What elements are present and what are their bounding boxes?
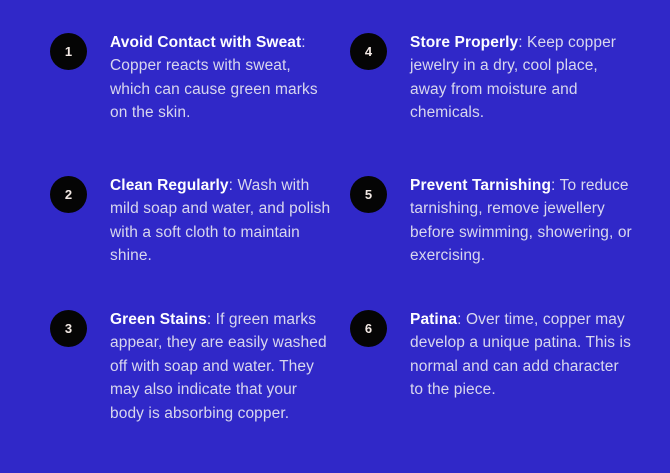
tip-item-5: 5 Prevent Tarnishing: To reduce tarnishi… bbox=[350, 176, 650, 310]
tip-text-1: Avoid Contact with Sweat: Copper reacts … bbox=[110, 31, 332, 125]
tip-item-2: 2 Clean Regularly: Wash with mild soap a… bbox=[50, 176, 350, 310]
tip-number-badge-1: 1 bbox=[50, 33, 87, 70]
tip-separator-6: : bbox=[457, 311, 466, 328]
tip-number-5: 5 bbox=[365, 188, 372, 201]
tip-number-badge-2: 2 bbox=[50, 176, 87, 213]
tips-grid: 1 Avoid Contact with Sweat: Copper react… bbox=[0, 0, 670, 473]
tip-number-1: 1 bbox=[65, 45, 72, 58]
tip-number-badge-6: 6 bbox=[350, 310, 387, 347]
tip-term-5: Prevent Tarnishing bbox=[410, 177, 551, 194]
tip-term-3: Green Stains bbox=[110, 311, 207, 328]
tip-term-1: Avoid Contact with Sweat bbox=[110, 34, 301, 51]
tip-body-1: Copper reacts with sweat, which can caus… bbox=[110, 57, 318, 121]
tip-number-4: 4 bbox=[365, 45, 372, 58]
tip-text-6: Patina: Over time, copper may develop a … bbox=[410, 308, 635, 402]
tip-number-3: 3 bbox=[65, 322, 72, 335]
tip-number-badge-5: 5 bbox=[350, 176, 387, 213]
tip-item-6: 6 Patina: Over time, copper may develop … bbox=[350, 310, 650, 473]
tip-number-2: 2 bbox=[65, 188, 72, 201]
tip-item-3: 3 Green Stains: If green marks appear, t… bbox=[50, 310, 350, 473]
tip-separator-5: : bbox=[551, 177, 560, 194]
tip-term-6: Patina bbox=[410, 311, 457, 328]
tip-number-6: 6 bbox=[365, 322, 372, 335]
tip-term-2: Clean Regularly bbox=[110, 177, 229, 194]
tip-number-badge-3: 3 bbox=[50, 310, 87, 347]
tip-separator-4: : bbox=[518, 34, 527, 51]
tip-text-4: Store Properly: Keep copper jewelry in a… bbox=[410, 31, 635, 125]
tip-separator-3: : bbox=[207, 311, 216, 328]
tip-text-3: Green Stains: If green marks appear, the… bbox=[110, 308, 332, 425]
tips-board: 1 Avoid Contact with Sweat: Copper react… bbox=[0, 0, 670, 473]
tip-term-4: Store Properly bbox=[410, 34, 518, 51]
tip-item-4: 4 Store Properly: Keep copper jewelry in… bbox=[350, 33, 650, 176]
tip-text-2: Clean Regularly: Wash with mild soap and… bbox=[110, 174, 332, 268]
tip-separator-1: : bbox=[301, 34, 305, 51]
tip-item-1: 1 Avoid Contact with Sweat: Copper react… bbox=[50, 33, 350, 176]
tip-text-5: Prevent Tarnishing: To reduce tarnishing… bbox=[410, 174, 635, 268]
tip-number-badge-4: 4 bbox=[350, 33, 387, 70]
